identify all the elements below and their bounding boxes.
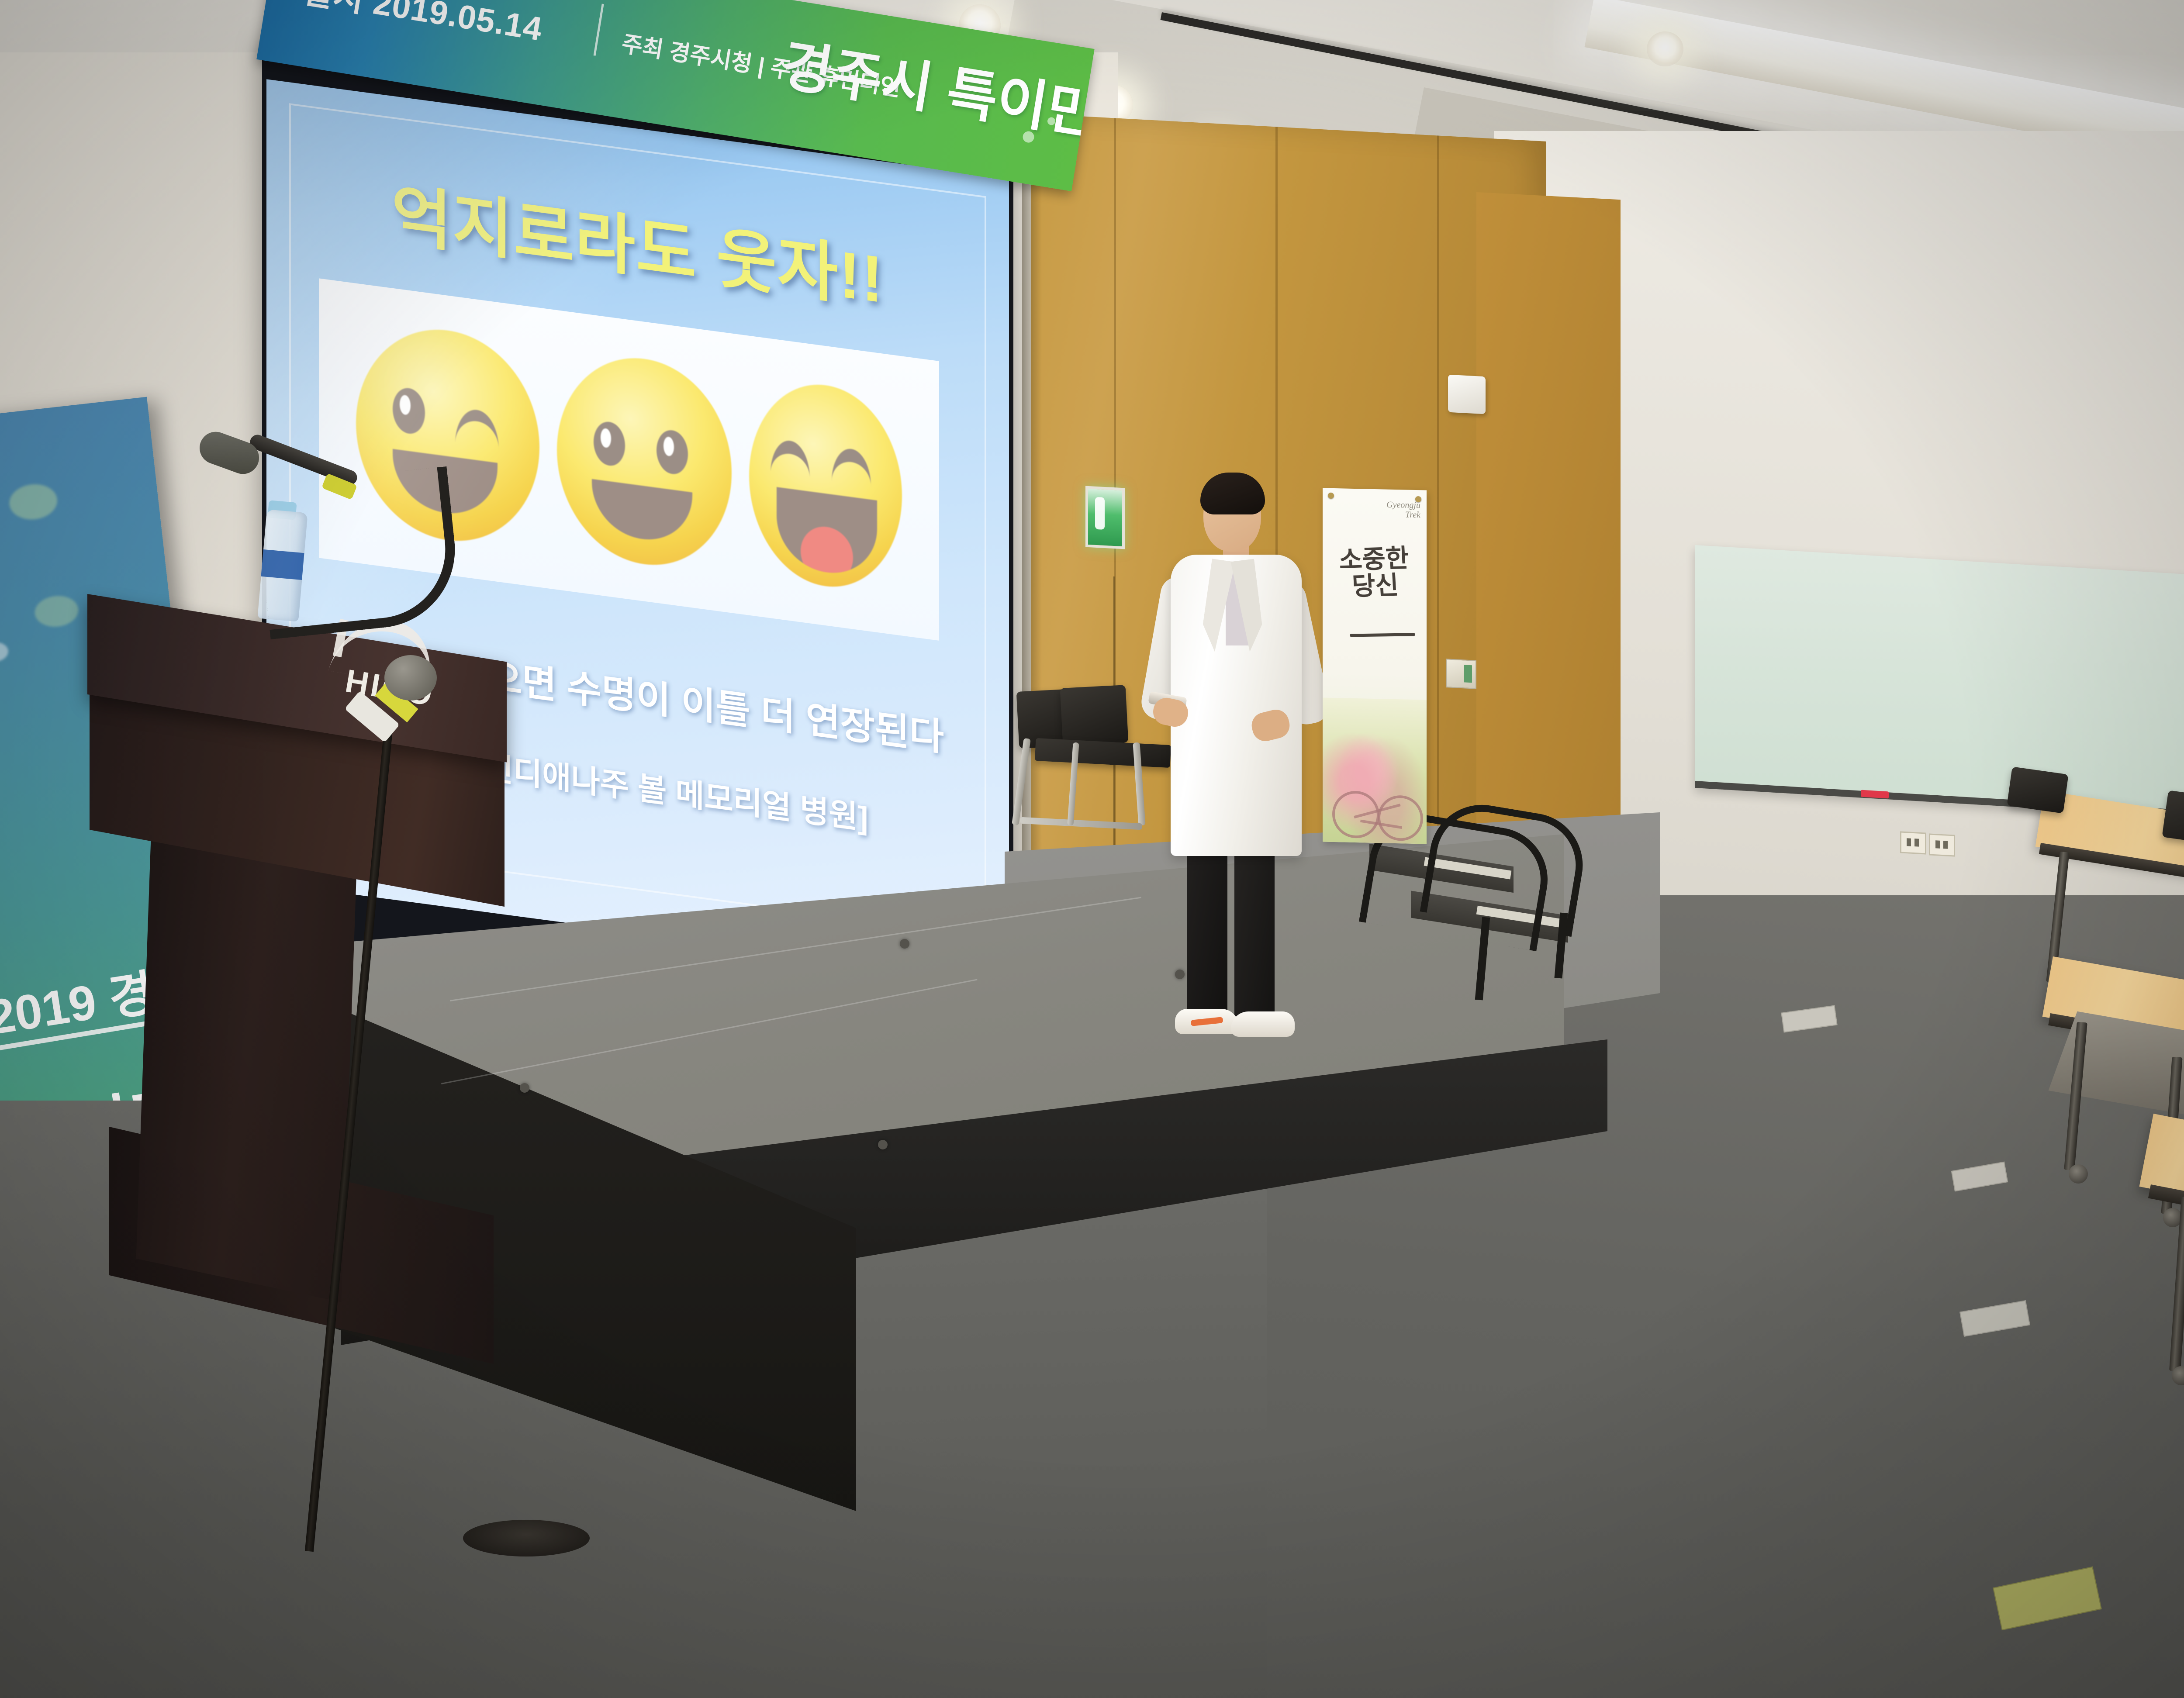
stage-bolt xyxy=(1175,970,1185,979)
bicycle-wheel-icon xyxy=(1378,795,1423,841)
wall-power-outlet[interactable] xyxy=(1900,831,1926,854)
exit-sign-icon xyxy=(1085,486,1125,549)
banner-photo-artwork xyxy=(1323,698,1427,844)
light-switch[interactable] xyxy=(1446,659,1476,689)
laughing-open-mouth-icon xyxy=(749,375,902,597)
banner-signature: Gyeongju Trek xyxy=(1386,500,1420,520)
stacked-chair-back[interactable] xyxy=(1060,685,1129,746)
banner-separator xyxy=(594,4,604,56)
presenter-right-shoe xyxy=(1231,1011,1295,1037)
presenter-left-shoe xyxy=(1175,1009,1239,1034)
wall-corner-shadow xyxy=(1022,109,1041,931)
presenter-right-leg xyxy=(1234,843,1275,1022)
wood-panel-wall-return xyxy=(1476,192,1621,898)
calligraphy-banner: Gyeongju Trek 소중한 당신 xyxy=(1323,488,1427,844)
stage-bolt xyxy=(520,1083,529,1093)
whiteboard-marker[interactable] xyxy=(1861,790,1889,799)
handheld-mic-head xyxy=(384,655,437,701)
table-caster xyxy=(2069,1164,2088,1184)
stage-bolt xyxy=(878,1140,888,1149)
banner-pin xyxy=(1328,493,1334,499)
smiling-face-icon xyxy=(557,347,732,576)
wall-power-outlet[interactable] xyxy=(1929,833,1955,856)
stage-bolt xyxy=(900,939,909,949)
bicycle-wheel-icon xyxy=(1332,790,1379,839)
banner-date: 일시 2019.05.14 xyxy=(300,0,546,50)
conference-room-photo: 억지로라도 웃자!! xyxy=(0,0,2184,1698)
banner-brush-stroke xyxy=(1350,633,1415,637)
presenter-left-leg xyxy=(1187,843,1227,1022)
banner-calligraphy-text: 소중한 당신 xyxy=(1327,545,1422,601)
wall-speaker-icon xyxy=(1448,375,1486,414)
microphone-stand-base xyxy=(463,1520,590,1556)
whiteboard[interactable] xyxy=(1695,545,2184,821)
stacked-chair[interactable] xyxy=(2007,766,2068,813)
ceiling-downlight xyxy=(1647,31,1683,66)
